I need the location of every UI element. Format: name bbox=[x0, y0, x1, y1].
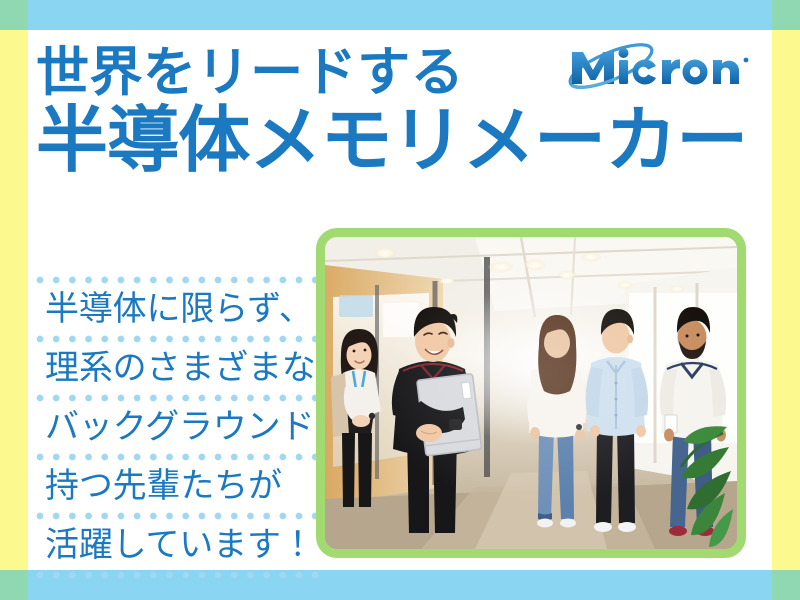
body-text-line: 活躍しています！ bbox=[36, 521, 324, 570]
dotted-rule bbox=[36, 275, 324, 285]
frame-band-right bbox=[772, 0, 800, 600]
headline-line-1: 世界をリードする bbox=[36, 44, 766, 101]
frame-corner-top-left bbox=[0, 0, 28, 30]
frame-band-top bbox=[0, 0, 800, 30]
body-text-line: 半導体に限らず、 bbox=[36, 285, 324, 334]
employee-photo-card bbox=[316, 228, 746, 558]
dotted-rule bbox=[36, 393, 324, 403]
dotted-rule bbox=[36, 570, 324, 580]
micron-recruit-banner: 世界をリードする 半導体メモリメーカー 半導体に限らず、 理系のさまざまな バッ… bbox=[0, 0, 800, 600]
body-text-block: 半導体に限らず、 理系のさまざまな バックグラウンドを 持つ先輩たちが 活躍して… bbox=[36, 275, 324, 580]
frame-corner-bottom-left bbox=[0, 570, 28, 600]
frame-corner-bottom-right bbox=[772, 570, 800, 600]
headline: 世界をリードする 半導体メモリメーカー bbox=[36, 44, 766, 179]
employee-photo bbox=[325, 237, 737, 549]
body-text-line: バックグラウンドを bbox=[36, 403, 324, 452]
headline-line-2: 半導体メモリメーカー bbox=[36, 103, 766, 179]
dotted-rule bbox=[36, 511, 324, 521]
body-text-line: 理系のさまざまな bbox=[36, 344, 324, 393]
dotted-rule bbox=[36, 452, 324, 462]
banner-canvas: 世界をリードする 半導体メモリメーカー 半導体に限らず、 理系のさまざまな バッ… bbox=[28, 30, 772, 570]
frame-corner-top-right bbox=[772, 0, 800, 30]
body-text-line: 持つ先輩たちが bbox=[36, 462, 324, 511]
dotted-rule bbox=[36, 334, 324, 344]
frame-band-left bbox=[0, 0, 28, 600]
